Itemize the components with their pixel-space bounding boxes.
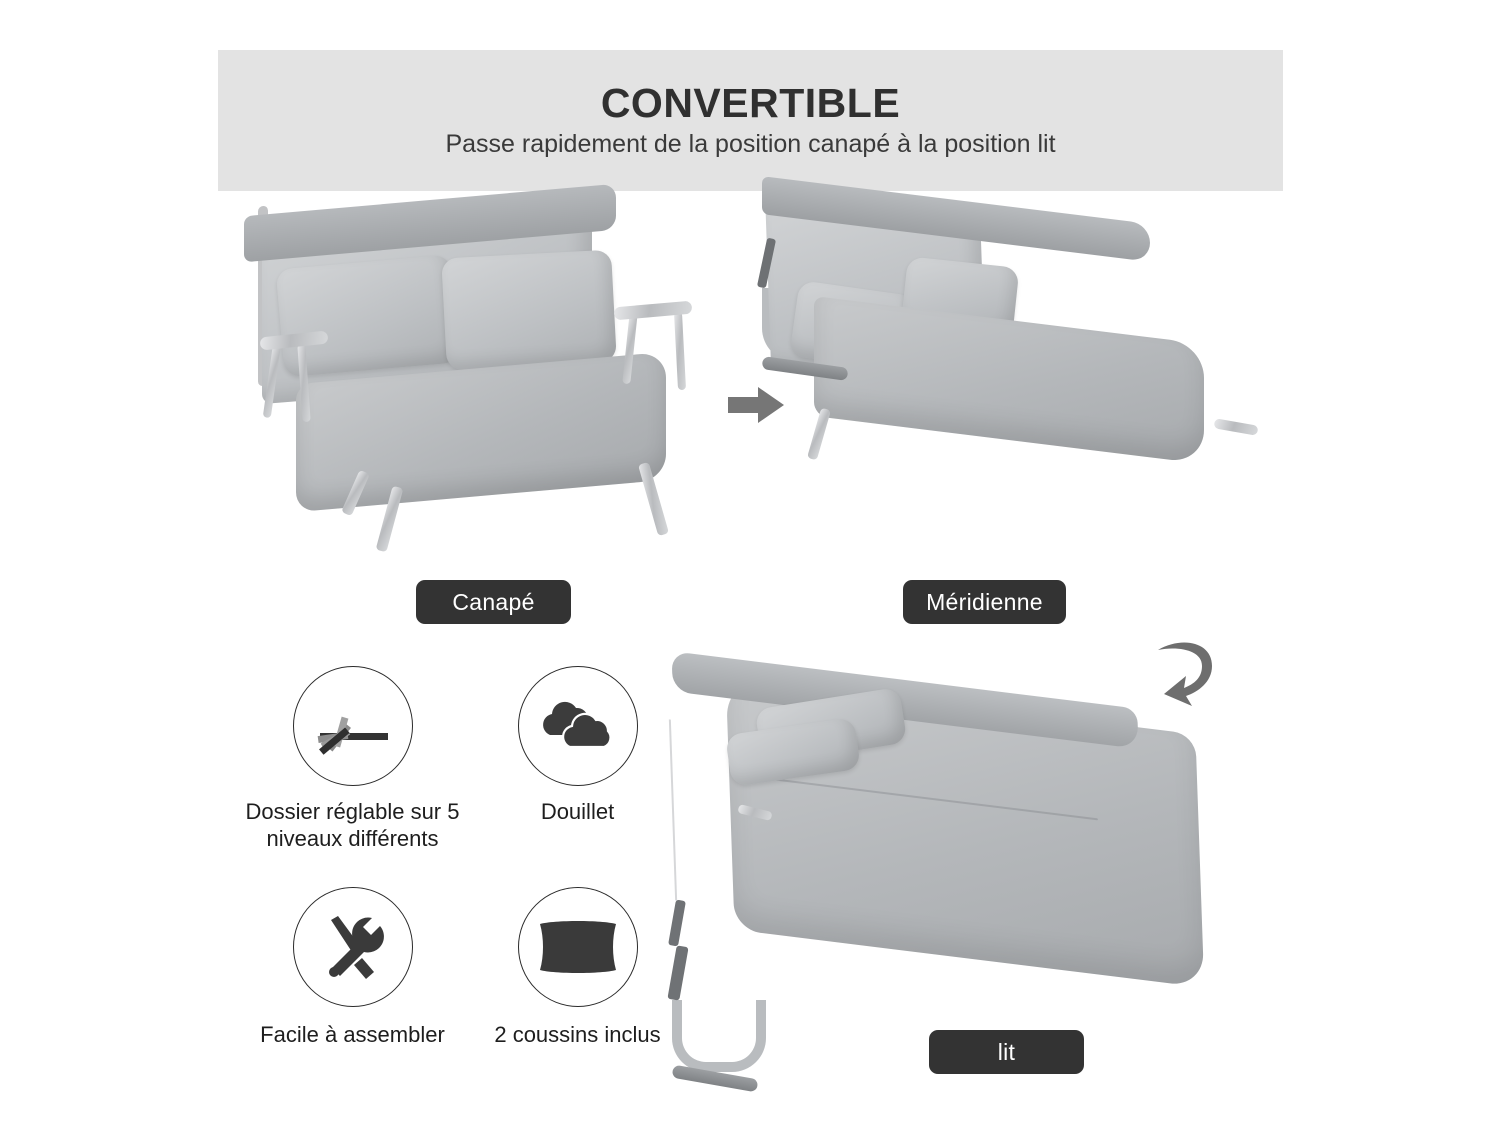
- tools-icon: [293, 887, 413, 1007]
- page-subtitle: Passe rapidement de la position canapé à…: [445, 129, 1055, 159]
- feature-row-1: Dossier réglable sur 5 niveaux différent…: [240, 666, 690, 853]
- product-image-lit: [672, 680, 1272, 1030]
- product-image-canape: [244, 200, 714, 570]
- feature-grid: Dossier réglable sur 5 niveaux différent…: [240, 666, 690, 1048]
- feature-item-assembly: Facile à assembler: [240, 887, 465, 1049]
- feature-label-soft: Douillet: [541, 799, 614, 826]
- recline-levels-icon: [293, 666, 413, 786]
- chaise-leg-left: [807, 408, 831, 461]
- feature-row-2: Facile à assembler 2 coussins inclus: [240, 887, 690, 1049]
- badge-lit: lit: [929, 1030, 1084, 1074]
- feature-label-recline: Dossier réglable sur 5 niveaux différent…: [240, 799, 465, 853]
- sofa-armrest-post-right-b: [674, 312, 686, 390]
- header-band: CONVERTIBLE Passe rapidement de la posit…: [218, 50, 1283, 191]
- sofa-cushion-right: [441, 250, 617, 371]
- badge-canape: Canapé: [416, 580, 571, 624]
- feature-label-assembly: Facile à assembler: [260, 1022, 445, 1049]
- badge-meridienne: Méridienne: [903, 580, 1066, 624]
- product-image-meridienne: [762, 200, 1262, 560]
- feature-item-cushions: 2 coussins inclus: [465, 887, 690, 1049]
- page-title: CONVERTIBLE: [601, 82, 900, 125]
- feature-label-cushions: 2 coussins inclus: [494, 1022, 660, 1049]
- pillow-icon: [518, 887, 638, 1007]
- chaise-mattress: [814, 296, 1204, 464]
- feature-item-soft: Douillet: [465, 666, 690, 853]
- feature-item-recline: Dossier réglable sur 5 niveaux différent…: [240, 666, 465, 853]
- cloud-soft-icon: [518, 666, 638, 786]
- chaise-leg-right: [1213, 418, 1258, 435]
